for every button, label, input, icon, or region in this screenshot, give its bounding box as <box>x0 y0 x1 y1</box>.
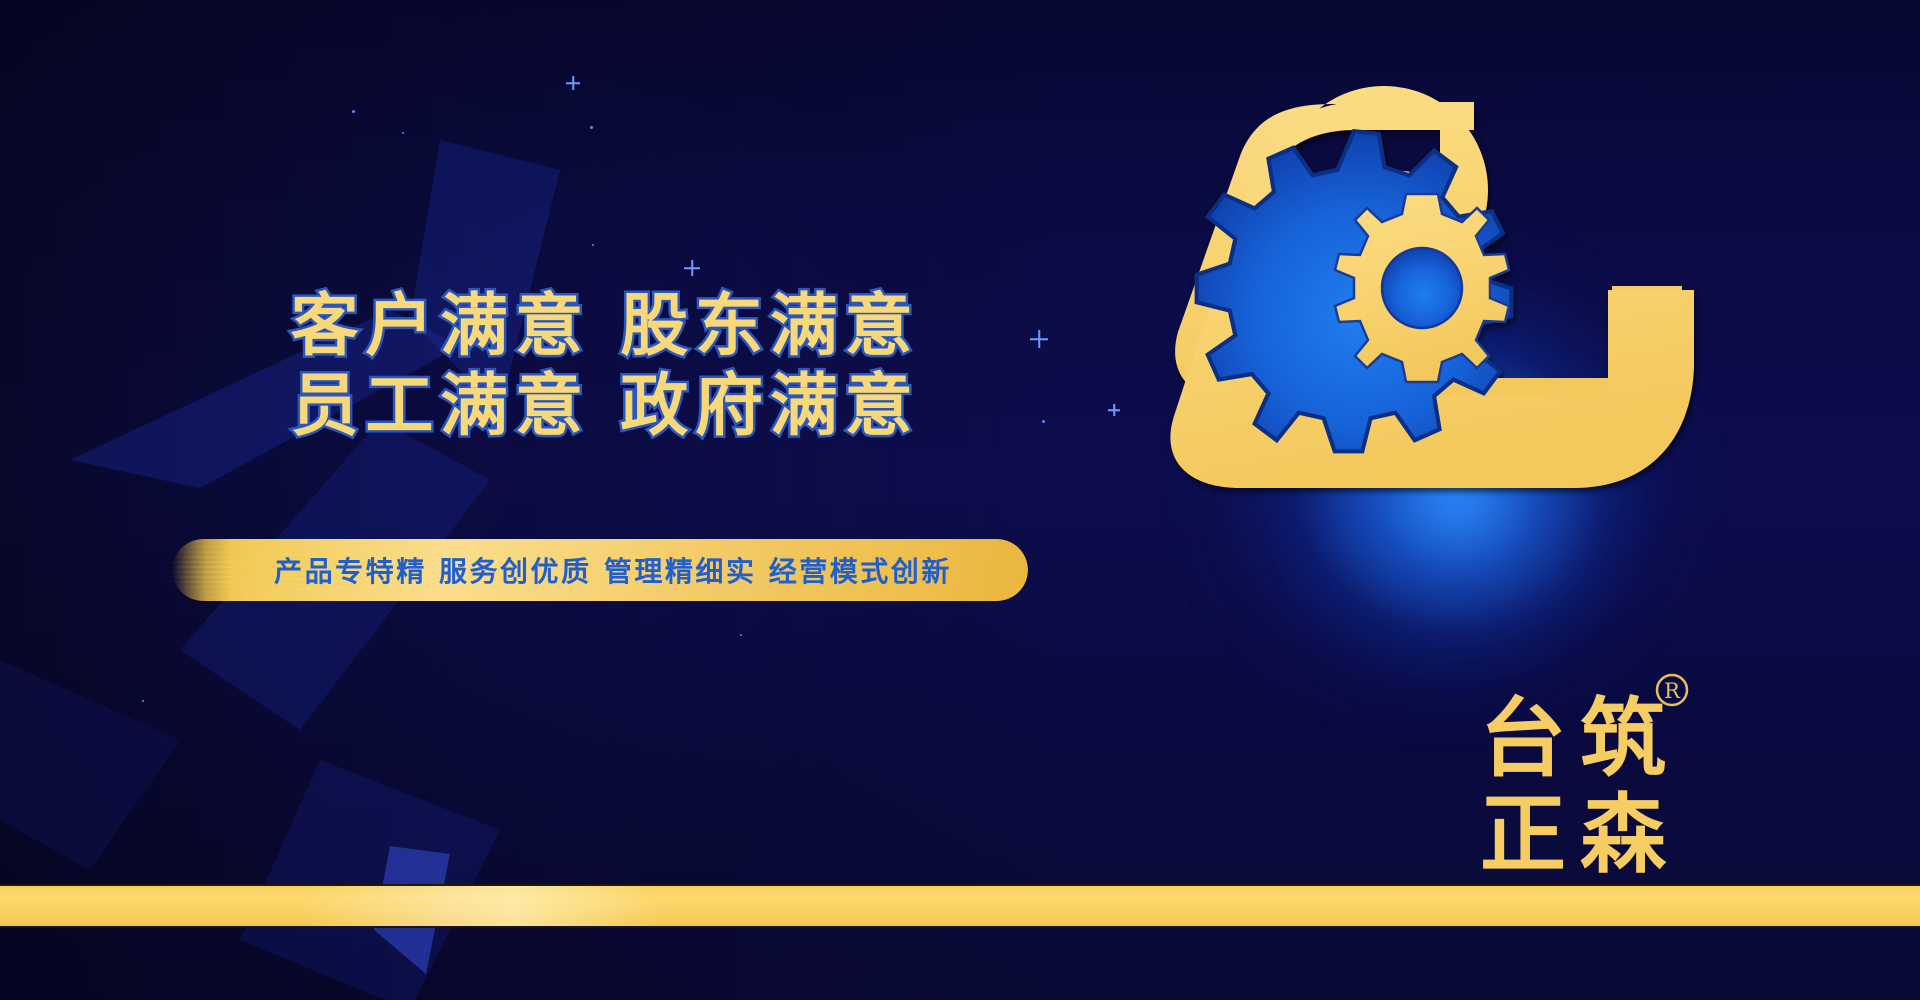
polygon-shard-far-left <box>0 620 260 880</box>
sparkle-dot <box>590 126 593 129</box>
company-wordmark: 台 筑 正 森 R <box>1472 672 1702 882</box>
wordmark-char-tr: 筑 <box>1580 688 1666 789</box>
svg-text:R: R <box>1664 679 1681 703</box>
wordmark-char-br: 森 <box>1580 784 1667 882</box>
wordmark-char-bl: 正 <box>1480 784 1566 882</box>
sparkle-star <box>1030 330 1048 348</box>
gold-bar-highlight <box>300 886 660 926</box>
wordmark-char-tl: 台 <box>1480 688 1566 789</box>
slogan-pill-text: 产品专特精 服务创优质 管理精细实 经营模式创新 <box>172 539 1028 601</box>
headline-slogan: 客户满意 股东满意 员工满意 政府满意 <box>240 286 970 446</box>
gear-swoosh-logo <box>1122 86 1702 506</box>
sparkle-star <box>566 76 580 90</box>
headline-line-2: 员工满意 政府满意 <box>240 366 970 446</box>
sparkle-star <box>1108 404 1120 416</box>
sparkle-dot <box>142 700 144 702</box>
slogan-pill: 产品专特精 服务创优质 管理精细实 经营模式创新 <box>172 539 1028 601</box>
sparkle-dot <box>352 110 355 113</box>
slide-canvas: 客户满意 股东满意 员工满意 政府满意 产品专特精 服务创优质 管理精细实 经营… <box>0 0 1920 1000</box>
sparkle-star <box>684 260 700 276</box>
bottom-gold-bar <box>0 884 1920 928</box>
sparkle-dot <box>740 634 742 636</box>
sparkle-dot <box>1042 420 1045 423</box>
headline-line-1: 客户满意 股东满意 <box>240 286 970 366</box>
sparkle-dot <box>402 132 404 134</box>
sparkle-dot <box>592 244 594 246</box>
